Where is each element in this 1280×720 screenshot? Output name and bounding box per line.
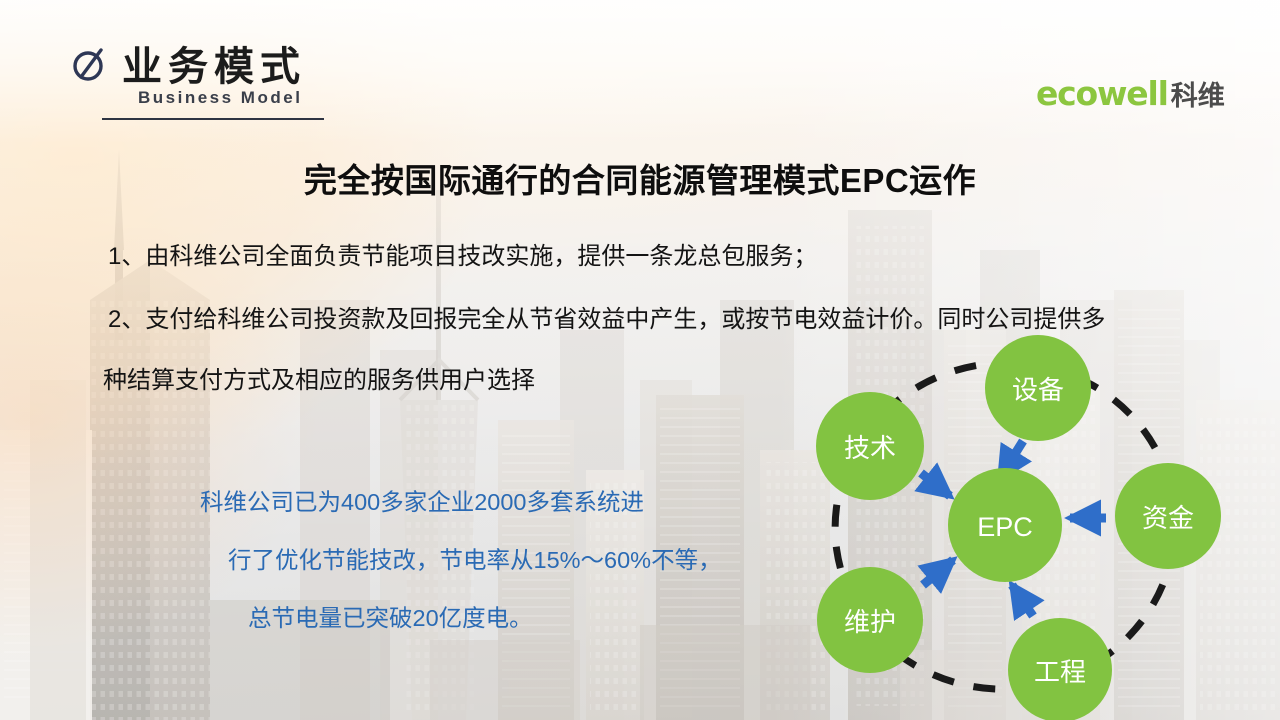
diagram-node-epc-center[interactable]: EPC (948, 468, 1062, 582)
diagram-node-maintenance-label: 维护 (844, 607, 896, 637)
highlight-line-2: 行了优化节能技改，节电率从15%～60%不等， (200, 531, 722, 589)
brand-logo-chinese: 科维 (1171, 74, 1225, 113)
bullet-item-2-continued: 种结算支付方式及相应的服务供用户选择 (103, 360, 535, 395)
page-subtitle: Business Model (138, 88, 302, 108)
diagram-node-equipment[interactable]: 设备 (985, 335, 1091, 441)
bullet-item-1: 1、由科维公司全面负责节能项目技改实施，提供一条龙总包服务； (108, 236, 817, 271)
arrow-technology-to-epc (921, 473, 950, 496)
diagram-node-engineering[interactable]: 工程 (1008, 618, 1112, 720)
brand-logo-english: ecowell (1036, 74, 1168, 113)
brand-logo: ecowell 科维 (1036, 74, 1225, 113)
arrow-maintenance-to-epc (923, 560, 953, 585)
slide: 业务模式 Business Model ecowell 科维 完全按国际通行的合… (0, 0, 1280, 720)
diagram-node-maintenance[interactable]: 维护 (817, 567, 923, 673)
diagram-node-epc-label: EPC (977, 512, 1033, 542)
diagram-node-capital[interactable]: 资金 (1115, 463, 1221, 569)
page-title: 业务模式 (122, 34, 306, 92)
content-headline: 完全按国际通行的合同能源管理模式EPC运作 (0, 154, 1280, 202)
header-divider (102, 118, 324, 120)
highlight-line-3: 总节电量已突破20亿度电。 (200, 589, 722, 647)
diagram-node-technology-label: 技术 (844, 433, 896, 463)
slashed-circle-logo-icon (68, 42, 112, 86)
epc-cycle-diagram: 设备 资金 工程 维护 技术 EPC (790, 328, 1240, 720)
diagram-node-engineering-label: 工程 (1034, 657, 1086, 687)
diagram-node-capital-label: 资金 (1142, 503, 1194, 533)
highlight-statistics-block: 科维公司已为400多家企业2000多套系统进 行了优化节能技改，节电率从15%～… (200, 473, 722, 647)
highlight-line-1: 科维公司已为400多家企业2000多套系统进 (200, 473, 722, 531)
diagram-node-technology[interactable]: 技术 (816, 392, 924, 500)
arrow-engineering-to-epc (1012, 585, 1033, 616)
diagram-node-equipment-label: 设备 (1012, 375, 1064, 405)
